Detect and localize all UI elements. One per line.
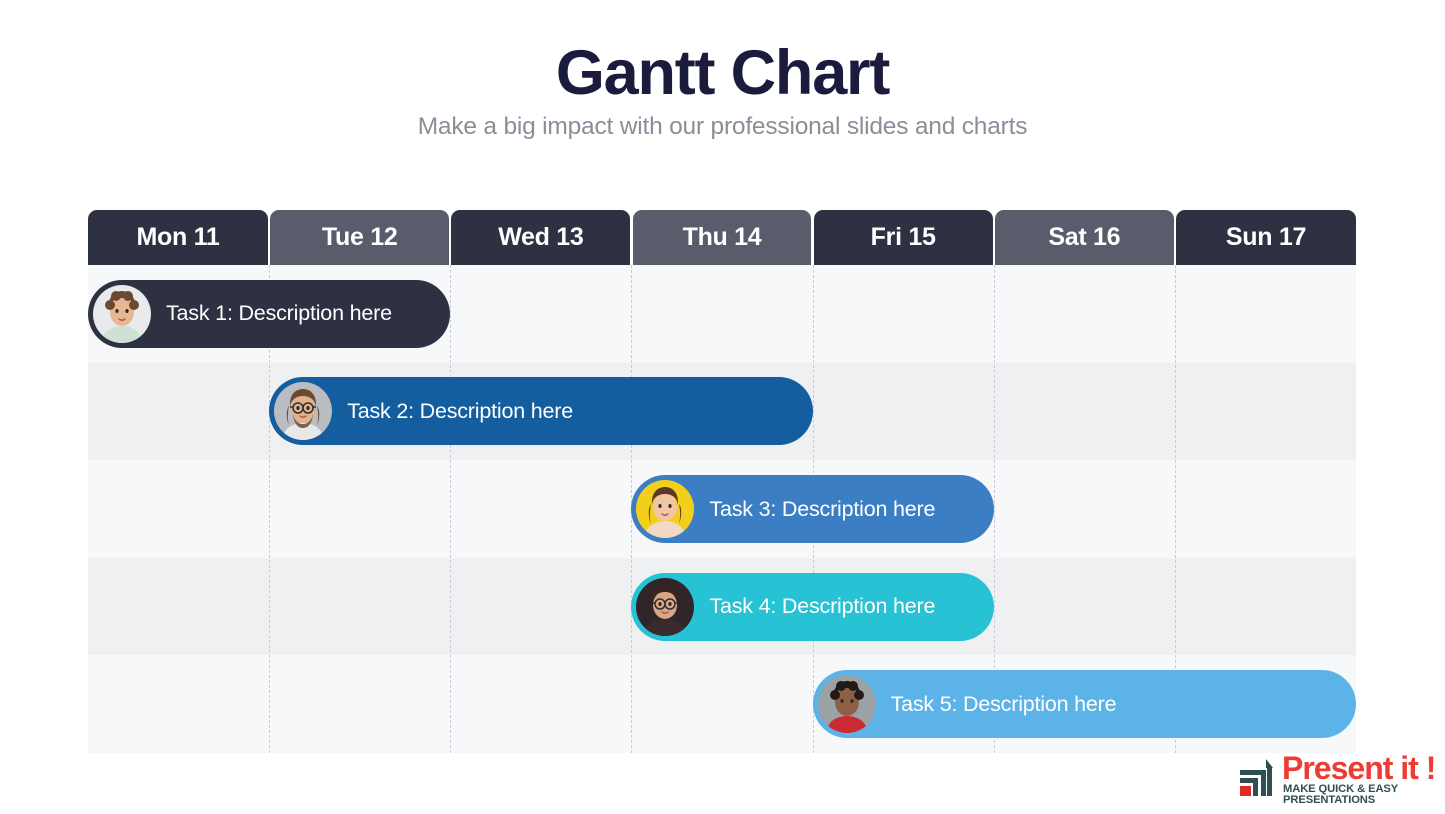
task-bar[interactable]: Task 1: Description here (88, 280, 450, 348)
day-header-label: Mon 11 (137, 223, 220, 252)
task-bar-label: Task 5: Description here (891, 692, 1117, 717)
day-header-label: Wed 13 (498, 223, 583, 252)
day-header-cell[interactable]: Sun 17 (1176, 210, 1356, 265)
task-bar-label: Task 1: Description here (166, 301, 392, 326)
task-bar[interactable]: Task 4: Description here (631, 573, 993, 641)
task-bar-label: Task 4: Description here (709, 594, 935, 619)
present-it-logo: Present it ! MAKE QUICK & EASY PRESENTAT… (1236, 754, 1441, 802)
task-bar[interactable]: Task 5: Description here (813, 670, 1356, 738)
day-header-label: Thu 14 (683, 223, 762, 252)
day-header-label: Fri 15 (871, 223, 936, 252)
task-bar-label: Task 3: Description here (709, 497, 935, 522)
woman-dark-hair-glasses-avatar (636, 578, 694, 636)
task-bar[interactable]: Task 2: Description here (269, 377, 812, 445)
woman-curly-hair-avatar (93, 285, 151, 343)
day-header-cell[interactable]: Sat 16 (995, 210, 1174, 265)
day-header-cell[interactable]: Tue 12 (270, 210, 449, 265)
task-bar[interactable]: Task 3: Description here (631, 475, 993, 543)
gantt-chart-slide: Gantt Chart Make a big impact with our p… (0, 0, 1445, 814)
day-header-row: Mon 11Tue 12Wed 13Thu 14Fri 15Sat 16Sun … (88, 210, 1356, 265)
gantt-chart: Mon 11Tue 12Wed 13Thu 14Fri 15Sat 16Sun … (88, 210, 1356, 753)
task-bars-layer: Task 1: Description hereTask 2: Descript… (88, 265, 1356, 753)
logo-tagline: MAKE QUICK & EASY PRESENTATIONS (1283, 784, 1441, 806)
page-title: Gantt Chart (0, 40, 1445, 106)
day-header-label: Sun 17 (1226, 223, 1306, 252)
day-header-cell[interactable]: Mon 11 (88, 210, 268, 265)
man-glasses-beard-avatar (274, 382, 332, 440)
logo-mark-icon (1236, 756, 1278, 798)
woman-yellow-background-avatar (636, 480, 694, 538)
day-header-label: Sat 16 (1048, 223, 1120, 252)
day-header-cell[interactable]: Fri 15 (814, 210, 993, 265)
logo-wordmark: Present it ! (1282, 752, 1435, 784)
day-header-label: Tue 12 (322, 223, 398, 252)
page-subtitle: Make a big impact with our professional … (0, 113, 1445, 141)
day-header-cell[interactable]: Wed 13 (451, 210, 630, 265)
day-header-cell[interactable]: Thu 14 (633, 210, 812, 265)
young-man-red-hoodie-avatar (818, 675, 876, 733)
task-bar-label: Task 2: Description here (347, 399, 573, 424)
